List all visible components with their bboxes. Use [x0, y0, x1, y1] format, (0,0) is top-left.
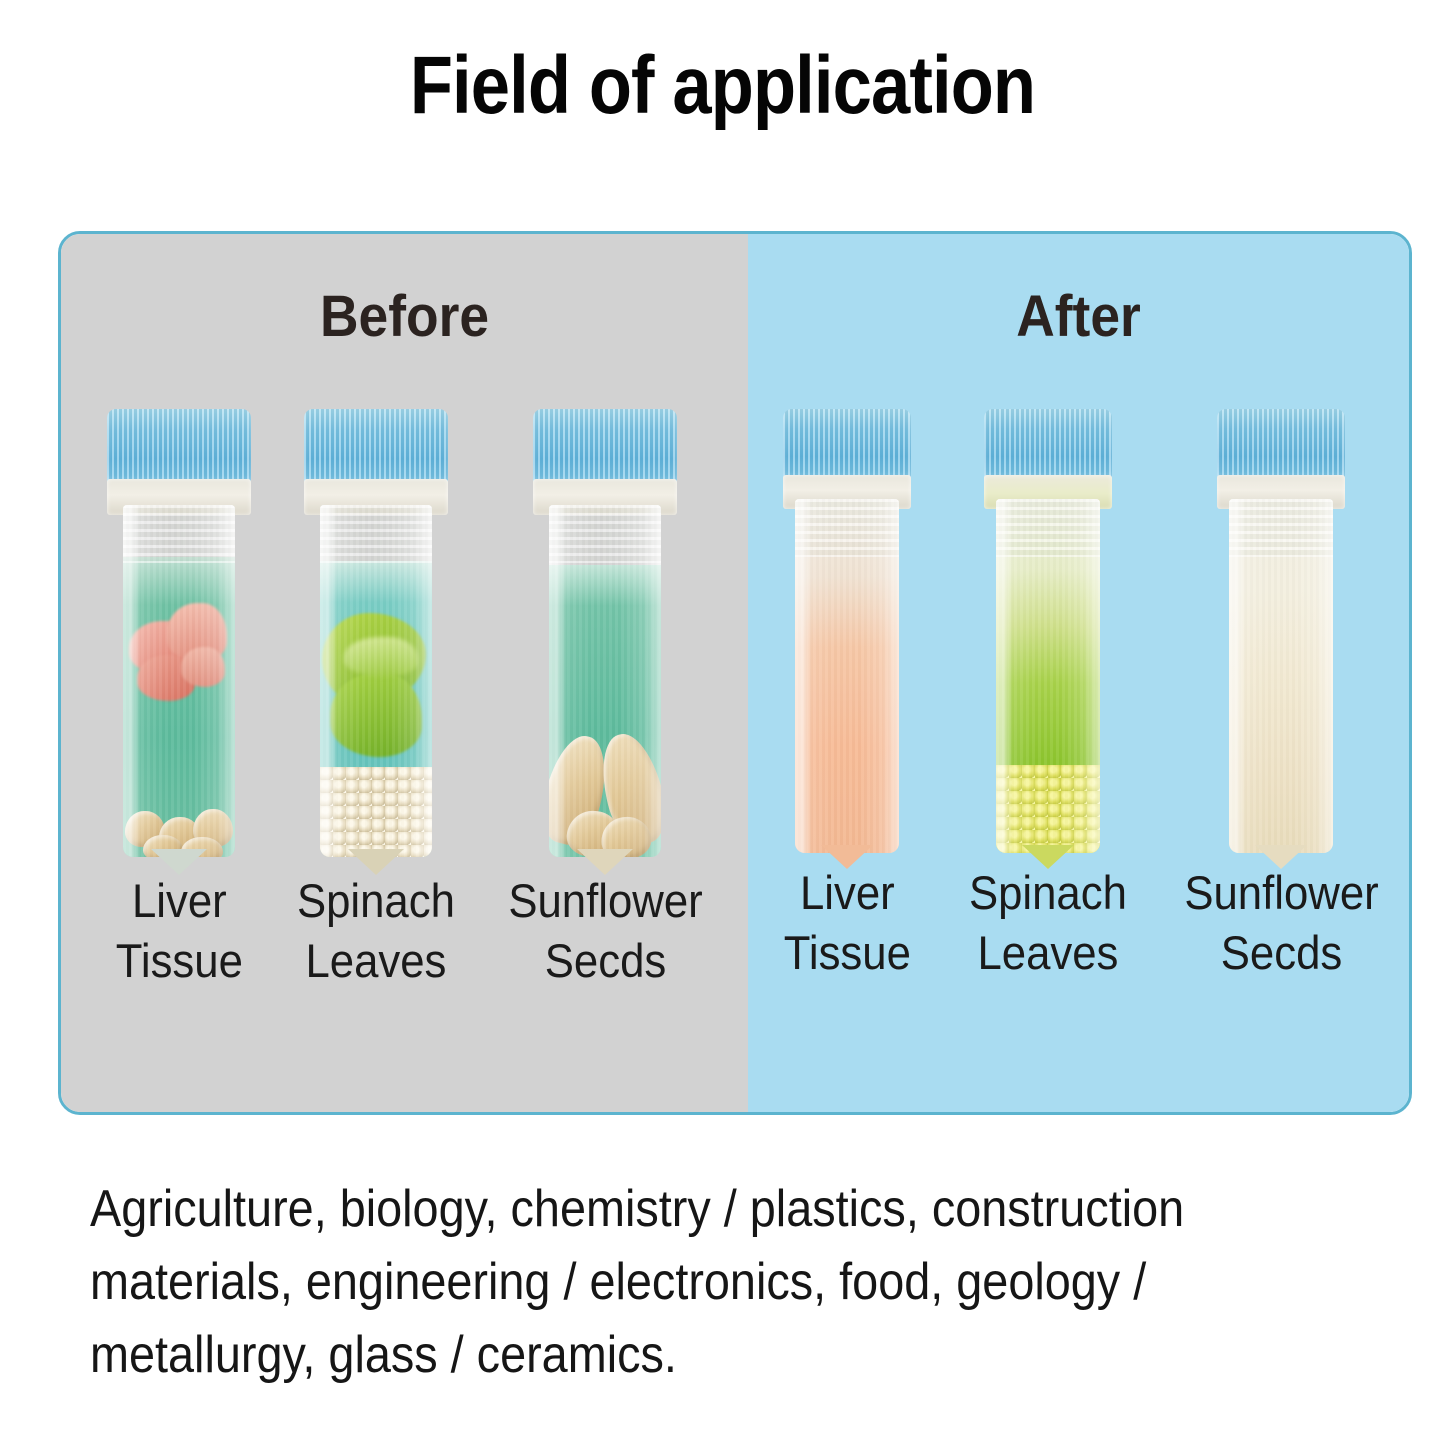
tube-thread-ring — [320, 505, 432, 563]
sample-label-line2: Secds — [1184, 923, 1378, 983]
homogenate-liquid — [1229, 499, 1333, 853]
vial-graphic-before-sunflower — [533, 409, 677, 857]
sample-label-line2: Secds — [508, 931, 702, 991]
sample-label-line2: Leaves — [297, 931, 455, 991]
vial-tube — [320, 505, 432, 857]
before-heading: Before — [88, 286, 720, 348]
vial-graphic-before-liver — [107, 409, 251, 857]
vial-graphic-before-spinach — [304, 409, 448, 857]
before-half: Before — [61, 234, 748, 1112]
vial-graphic-after-spinach — [976, 409, 1120, 849]
sample-label-line1: Liver — [784, 863, 911, 923]
after-half: After Liver — [748, 234, 1409, 1112]
sample-label: Liver Tissue — [116, 871, 243, 991]
before-sample-liver-tissue: Liver Tissue — [107, 409, 251, 991]
vial-cap-icon — [533, 409, 677, 485]
tissue-blob — [181, 647, 225, 687]
vial-tube — [996, 499, 1100, 853]
stained-grinding-beads — [996, 765, 1100, 853]
vial-graphic-after-liver — [775, 409, 919, 849]
sample-label-line1: Liver — [116, 871, 243, 931]
sample-label-line1: Spinach — [297, 871, 455, 931]
poster-page: Field of application Before — [0, 0, 1445, 1445]
sample-label-line1: Sunflower — [1184, 863, 1378, 923]
tube-thread-ring — [123, 505, 235, 563]
vial-tube — [549, 505, 661, 857]
before-sample-sunflower-seeds: Sunflower Secds — [501, 409, 710, 991]
before-after-panel: Before — [58, 231, 1412, 1115]
after-heading: After — [774, 286, 1382, 348]
vial-cap-icon — [984, 409, 1112, 481]
sample-label-line2: Tissue — [116, 931, 243, 991]
vial-tube — [1229, 499, 1333, 853]
vial-cap-icon — [304, 409, 448, 485]
tube-thread-ring — [549, 505, 661, 563]
after-sample-sunflower-seeds: Sunflower Secds — [1177, 409, 1386, 983]
sample-label-line2: Leaves — [969, 923, 1127, 983]
sample-label-line2: Tissue — [784, 923, 911, 983]
vial-tube — [795, 499, 899, 853]
after-vial-row: Liver Tissue — [748, 409, 1409, 983]
leaf-fragment — [344, 637, 418, 677]
sample-label-line1: Sunflower — [508, 871, 702, 931]
sample-label: Spinach Leaves — [297, 871, 455, 991]
vial-cap-icon — [1217, 409, 1345, 481]
leaf-fragment — [330, 673, 422, 757]
after-sample-spinach-leaves: Spinach Leaves — [963, 409, 1133, 983]
vial-graphic-after-sunflower — [1209, 409, 1353, 849]
sample-label: Sunflower Secds — [1184, 863, 1378, 983]
before-vial-row: Liver Tissue — [61, 409, 748, 991]
sample-label: Sunflower Secds — [508, 871, 702, 991]
sample-label: Spinach Leaves — [969, 863, 1127, 983]
before-sample-spinach-leaves: Spinach Leaves — [291, 409, 461, 991]
sample-label-line1: Spinach — [969, 863, 1127, 923]
homogenate-liquid — [795, 499, 899, 853]
vial-tube — [123, 505, 235, 857]
vial-cap-icon — [783, 409, 911, 481]
application-fields-caption: Agriculture, biology, chemistry / plasti… — [90, 1173, 1251, 1392]
sample-label: Liver Tissue — [784, 863, 911, 983]
after-sample-liver-tissue: Liver Tissue — [775, 409, 919, 983]
grinding-beads — [320, 767, 432, 857]
page-title: Field of application — [101, 38, 1344, 134]
vial-cap-icon — [107, 409, 251, 485]
